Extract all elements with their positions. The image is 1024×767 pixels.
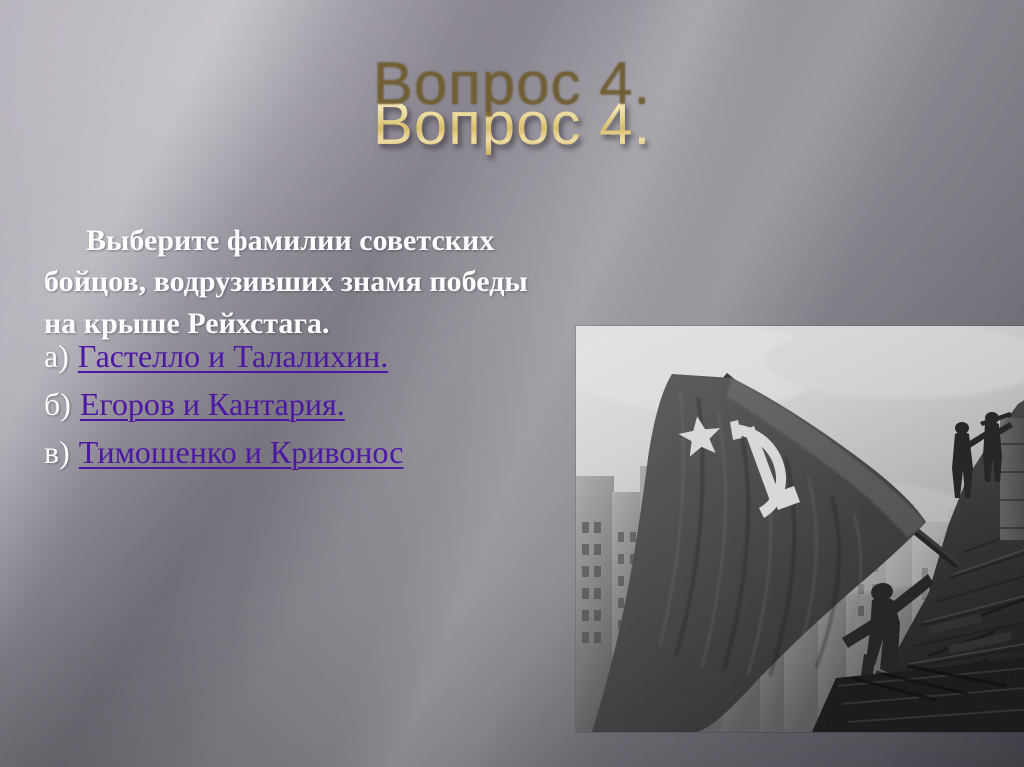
option-marker-a: а)	[44, 340, 69, 372]
option-marker-c: в)	[44, 436, 70, 468]
option-marker-b: б)	[44, 388, 71, 420]
option-link-c[interactable]: Тимошенко и Кривонос	[79, 436, 404, 468]
question-text: Выберите фамилии советских бойцов, водру…	[44, 220, 530, 344]
presentation-slide: Вопрос 4. Вопрос 4. Выберите фамилии сов…	[0, 0, 1024, 767]
reichstag-flag-photo	[576, 326, 1024, 732]
answer-options-list: а) Гастелло и Талалихин. б) Егоров и Кан…	[44, 340, 544, 484]
option-link-b[interactable]: Егоров и Кантария.	[80, 388, 345, 420]
answer-option-b[interactable]: б) Егоров и Кантария.	[44, 388, 544, 420]
slide-title-shadow: Вопрос 4.	[0, 52, 1024, 115]
answer-option-a[interactable]: а) Гастелло и Талалихин.	[44, 340, 544, 372]
reichstag-flag-photo-graphic	[576, 326, 1024, 732]
option-link-a[interactable]: Гастелло и Талалихин.	[78, 340, 388, 372]
answer-option-c[interactable]: в) Тимошенко и Кривонос	[44, 436, 544, 468]
